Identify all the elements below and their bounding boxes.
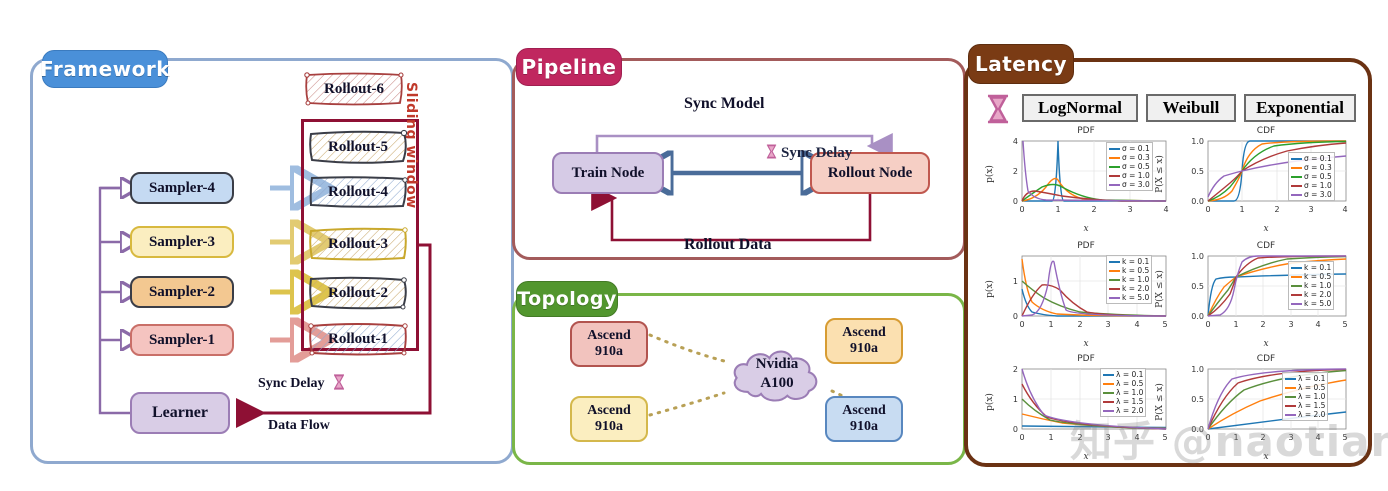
svg-text:5: 5 xyxy=(1342,320,1347,329)
rollout-4-node[interactable]: Rollout-4 xyxy=(310,176,406,208)
svg-text:0: 0 xyxy=(1019,320,1024,329)
hourglass-icon xyxy=(765,144,778,159)
rollout-6-node[interactable]: Rollout-6 xyxy=(306,73,402,105)
svg-text:0: 0 xyxy=(1013,312,1018,321)
framework-sync-delay-label: Sync Delay xyxy=(258,374,346,392)
plot-lognormal-cdf: CDF P(X ≤ x) x 1.0 0.5 0.0 0 1 2 xyxy=(1182,128,1350,220)
ascend-node-4[interactable]: Ascend 910a xyxy=(825,396,903,442)
framework-connectors xyxy=(30,58,508,458)
svg-text:2: 2 xyxy=(1274,205,1279,214)
tab-exponential[interactable]: Exponential xyxy=(1244,94,1356,122)
rollout-5-label: Rollout-5 xyxy=(328,139,388,156)
svg-text:4: 4 xyxy=(1163,205,1168,214)
svg-text:0.5: 0.5 xyxy=(1191,282,1204,291)
watermark: 知乎 @naotian xyxy=(1070,408,1388,469)
rollout-1-node[interactable]: Rollout-1 xyxy=(310,323,406,355)
latency-panel-title: Latency xyxy=(968,44,1074,84)
pipeline-sync-delay-label: Sync Delay xyxy=(765,144,852,162)
svg-text:2: 2 xyxy=(1077,320,1082,329)
svg-text:2: 2 xyxy=(1013,167,1018,176)
train-node[interactable]: Train Node xyxy=(552,152,664,194)
plot-weibull-cdf: CDF P(X ≤ x) x 1.0 0.5 0.0 0 1 xyxy=(1182,243,1350,335)
nvidia-cloud-label: Nvidia A100 xyxy=(725,355,829,393)
svg-text:3: 3 xyxy=(1105,320,1110,329)
framework-panel-title: Framework xyxy=(42,50,168,88)
sampler-1-node[interactable]: Sampler-1 xyxy=(130,324,234,356)
svg-text:0: 0 xyxy=(1205,205,1210,214)
hourglass-icon xyxy=(985,94,1011,124)
svg-text:0: 0 xyxy=(1019,433,1024,442)
svg-text:2: 2 xyxy=(1260,320,1265,329)
learner-node[interactable]: Learner xyxy=(130,392,230,434)
svg-text:3: 3 xyxy=(1127,205,1132,214)
tab-weibull[interactable]: Weibull xyxy=(1146,94,1236,122)
plot-lognormal-pdf: PDF p(x) x 4 2 0 0 1 2 3 xyxy=(1002,128,1170,220)
legend: σ = 0.1 σ = 0.3 σ = 0.5 σ = 1.0 σ = 3.0 xyxy=(1106,142,1153,191)
svg-text:1: 1 xyxy=(1013,277,1018,286)
rollout-6-label: Rollout-6 xyxy=(324,81,384,98)
svg-text:0.0: 0.0 xyxy=(1191,312,1204,321)
svg-text:4: 4 xyxy=(1134,320,1139,329)
ascend-node-1[interactable]: Ascend 910a xyxy=(570,321,648,367)
svg-text:0: 0 xyxy=(1019,205,1024,214)
svg-text:2: 2 xyxy=(1091,205,1096,214)
svg-text:3: 3 xyxy=(1288,320,1293,329)
svg-text:1: 1 xyxy=(1239,205,1244,214)
tab-lognormal[interactable]: LogNormal xyxy=(1022,94,1138,122)
rollout-3-label: Rollout-3 xyxy=(328,236,388,253)
pipeline-panel-title: Pipeline xyxy=(516,48,622,86)
svg-text:0: 0 xyxy=(1013,425,1018,434)
sync-model-label: Sync Model xyxy=(684,95,764,113)
svg-text:4: 4 xyxy=(1013,137,1018,146)
plot-weibull-pdf: PDF p(x) x 1 0 0 1 2 3 xyxy=(1002,243,1170,335)
svg-text:1: 1 xyxy=(1055,205,1060,214)
rollout-2-label: Rollout-2 xyxy=(328,285,388,302)
ascend-node-2[interactable]: Ascend 910a xyxy=(570,396,648,442)
legend: k = 0.1 k = 0.5 k = 1.0 k = 2.0 k = 5.0 xyxy=(1106,255,1152,304)
svg-text:1.0: 1.0 xyxy=(1191,365,1204,374)
svg-text:5: 5 xyxy=(1162,320,1167,329)
svg-text:0: 0 xyxy=(1013,197,1018,206)
svg-text:2: 2 xyxy=(1013,365,1018,374)
svg-text:4: 4 xyxy=(1342,205,1347,214)
sampler-3-node[interactable]: Sampler-3 xyxy=(130,226,234,258)
svg-text:1: 1 xyxy=(1048,320,1053,329)
svg-text:3: 3 xyxy=(1308,205,1313,214)
rollout-4-label: Rollout-4 xyxy=(328,184,388,201)
sampler-4-node[interactable]: Sampler-4 xyxy=(130,172,234,204)
svg-text:0: 0 xyxy=(1205,320,1210,329)
diagram-canvas: Framework xyxy=(0,0,1388,491)
svg-text:1: 1 xyxy=(1233,320,1238,329)
ascend-node-3[interactable]: Ascend 910a xyxy=(825,318,903,364)
rollout-data-label: Rollout Data xyxy=(684,236,772,254)
svg-text:0.0: 0.0 xyxy=(1191,197,1204,206)
svg-text:1.0: 1.0 xyxy=(1191,137,1204,146)
rollout-1-label: Rollout-1 xyxy=(328,331,388,348)
svg-text:1: 1 xyxy=(1013,395,1018,404)
hourglass-icon xyxy=(332,374,346,390)
legend: σ = 0.1 σ = 0.3 σ = 0.5 σ = 1.0 σ = 3.0 xyxy=(1288,152,1335,201)
svg-text:0.5: 0.5 xyxy=(1191,395,1204,404)
framework-data-flow-label: Data Flow xyxy=(268,418,330,434)
topology-panel-title: Topology xyxy=(516,281,618,317)
svg-text:4: 4 xyxy=(1315,320,1320,329)
svg-text:1.0: 1.0 xyxy=(1191,252,1204,261)
rollout-5-node[interactable]: Rollout-5 xyxy=(310,131,406,163)
legend: k = 0.1 k = 0.5 k = 1.0 k = 2.0 k = 5.0 xyxy=(1288,261,1334,310)
sampler-2-node[interactable]: Sampler-2 xyxy=(130,276,234,308)
rollout-2-node[interactable]: Rollout-2 xyxy=(310,277,406,309)
rollout-3-node[interactable]: Rollout-3 xyxy=(310,228,406,260)
svg-text:0.5: 0.5 xyxy=(1191,167,1204,176)
svg-text:1: 1 xyxy=(1048,433,1053,442)
